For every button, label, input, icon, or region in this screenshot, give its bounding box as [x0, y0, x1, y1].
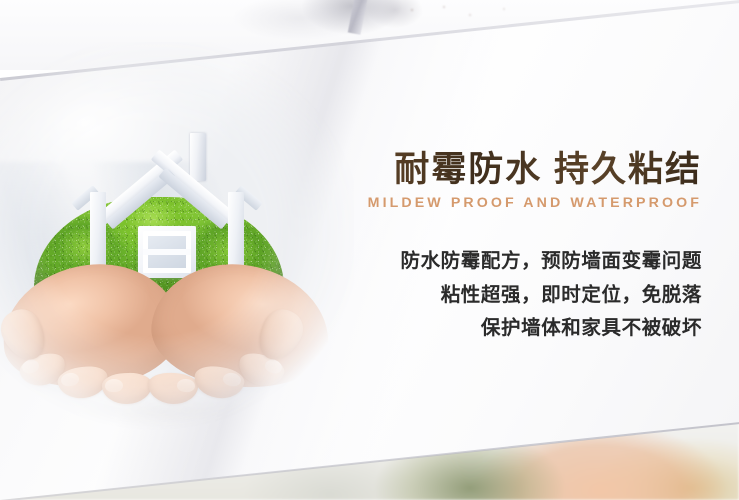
feature-line-1: 防水防霉配方，预防墙面变霉问题 [330, 245, 702, 279]
cupped-hands [2, 247, 332, 447]
promo-banner: 耐霉防水 持久粘结 MILDEW PROOF AND WATERPROOF 防水… [0, 0, 739, 500]
fingernail [177, 379, 196, 393]
house-chimney-icon [190, 133, 206, 181]
feature-list: 防水防霉配方，预防墙面变霉问题 粘性超强，即时定位，免脱落 保护墙体和家具不被破… [330, 245, 702, 346]
page-title: 耐霉防水 持久粘结 [330, 150, 702, 189]
background-object-top [348, 0, 370, 35]
feature-line-2: 粘性超强，即时定位，免脱落 [330, 279, 702, 313]
feature-line-3: 保护墙体和家具不被破坏 [330, 312, 702, 346]
fingernail [105, 379, 123, 393]
copy-block: 耐霉防水 持久粘结 MILDEW PROOF AND WATERPROOF 防水… [330, 150, 702, 346]
subtitle-english: MILDEW PROOF AND WATERPROOF [330, 195, 702, 211]
product-photo [0, 42, 354, 442]
